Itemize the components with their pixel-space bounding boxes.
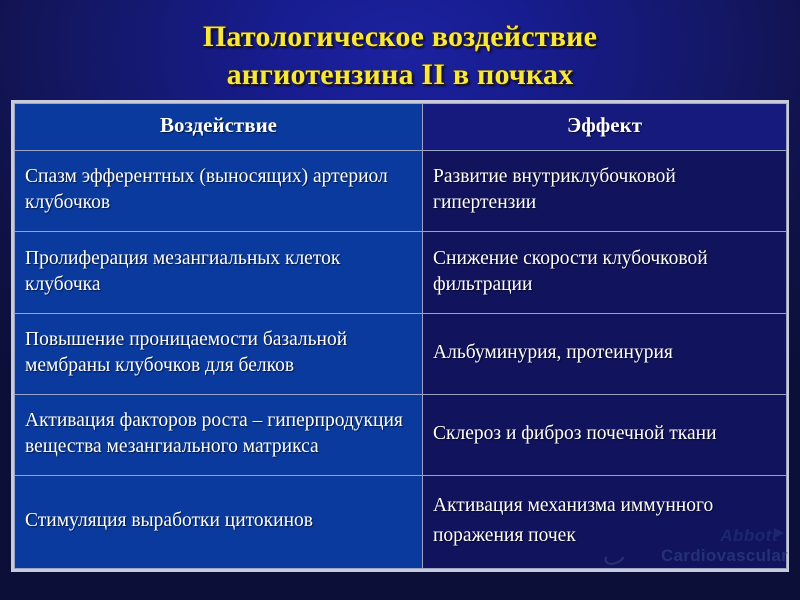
cell-result: Снижение скорости клубочковой фильтрации <box>423 232 787 313</box>
cell-effect: Активация факторов роста – гиперпродукци… <box>15 395 423 476</box>
cell-result: Активация механизма иммунного поражения … <box>423 476 787 569</box>
cell-result: Альбуминурия, протеинурия <box>423 313 787 394</box>
cell-result: Склероз и фиброз почечной ткани <box>423 395 787 476</box>
cell-result: Развитие внутриклубочковой гипертензии <box>423 151 787 232</box>
table-row: Стимуляция выработки цитокинов Активация… <box>15 476 787 569</box>
table-row: Активация факторов роста – гиперпродукци… <box>15 395 787 476</box>
slide-canvas: Патологическое воздействие ангиотензина … <box>0 0 800 600</box>
table-row: Повышение проницаемости базальной мембра… <box>15 313 787 394</box>
cell-effect: Повышение проницаемости базальной мембра… <box>15 313 423 394</box>
pathology-effects-table: Воздействие Эффект Спазм эфферентных (вы… <box>14 103 787 569</box>
table-row: Спазм эфферентных (выносящих) артериол к… <box>15 151 787 232</box>
column-header-effect: Воздействие <box>15 104 423 151</box>
table-row: Пролиферация мезангиальных клеток клубоч… <box>15 232 787 313</box>
table-header-row: Воздействие Эффект <box>15 104 787 151</box>
cell-effect: Стимуляция выработки цитокинов <box>15 476 423 569</box>
page-title: Патологическое воздействие ангиотензина … <box>0 18 800 95</box>
cell-effect: Спазм эфферентных (выносящих) артериол к… <box>15 151 423 232</box>
column-header-result: Эффект <box>423 104 787 151</box>
cell-effect: Пролиферация мезангиальных клеток клубоч… <box>15 232 423 313</box>
data-table-container: Воздействие Эффект Спазм эфферентных (вы… <box>11 100 789 572</box>
